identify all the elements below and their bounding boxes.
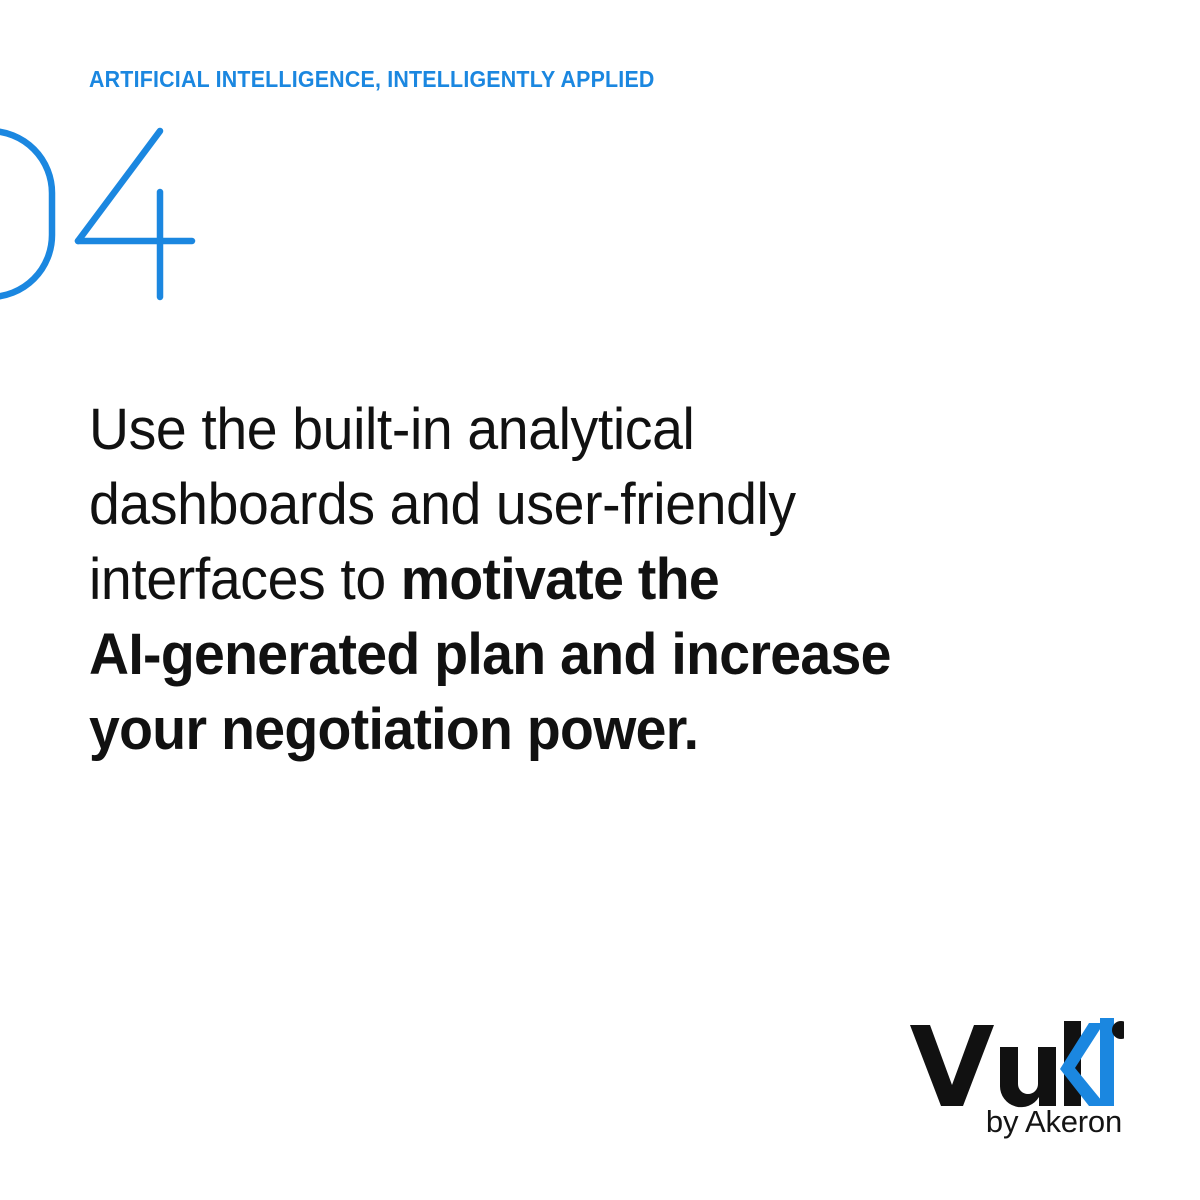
step-numeral-04 — [0, 96, 264, 306]
headline-line-1: Use the built-in analytical — [89, 392, 891, 467]
numeral-four-diagonal — [78, 131, 160, 241]
logo-letter-v — [910, 1025, 994, 1106]
headline-line-3: interfaces to motivate the — [89, 542, 891, 617]
headline-line-5-bold: your negotiation power. — [89, 697, 698, 762]
headline-line-4-bold: AI-generated plan and increase — [89, 622, 891, 687]
logo-wordmark-vulki — [908, 1016, 1124, 1108]
headline-line-2: dashboards and user-friendly — [89, 467, 891, 542]
headline-line-2-normal: dashboards and user-friendly — [89, 472, 796, 537]
headline-text: Use the built-in analytical dashboards a… — [89, 392, 891, 767]
numeral-zero-glyph — [0, 131, 52, 297]
headline-line-3-normal: interfaces to — [89, 547, 401, 612]
logo-letter-u — [1000, 1047, 1056, 1107]
slide-canvas: ARTIFICIAL INTELLIGENCE, INTELLIGENTLY A… — [0, 0, 1200, 1200]
logo-tagline: by Akeron — [986, 1104, 1122, 1140]
brand-logo: by Akeron — [908, 1016, 1124, 1144]
headline-line-1-normal: Use the built-in analytical — [89, 397, 694, 462]
eyebrow-label: ARTIFICIAL INTELLIGENCE, INTELLIGENTLY A… — [89, 66, 655, 92]
headline-line-4: AI-generated plan and increase — [89, 617, 891, 692]
logo-letter-k-stem — [1100, 1018, 1114, 1106]
headline-line-3-bold: motivate the — [401, 547, 719, 612]
headline-line-5: your negotiation power. — [89, 692, 891, 767]
